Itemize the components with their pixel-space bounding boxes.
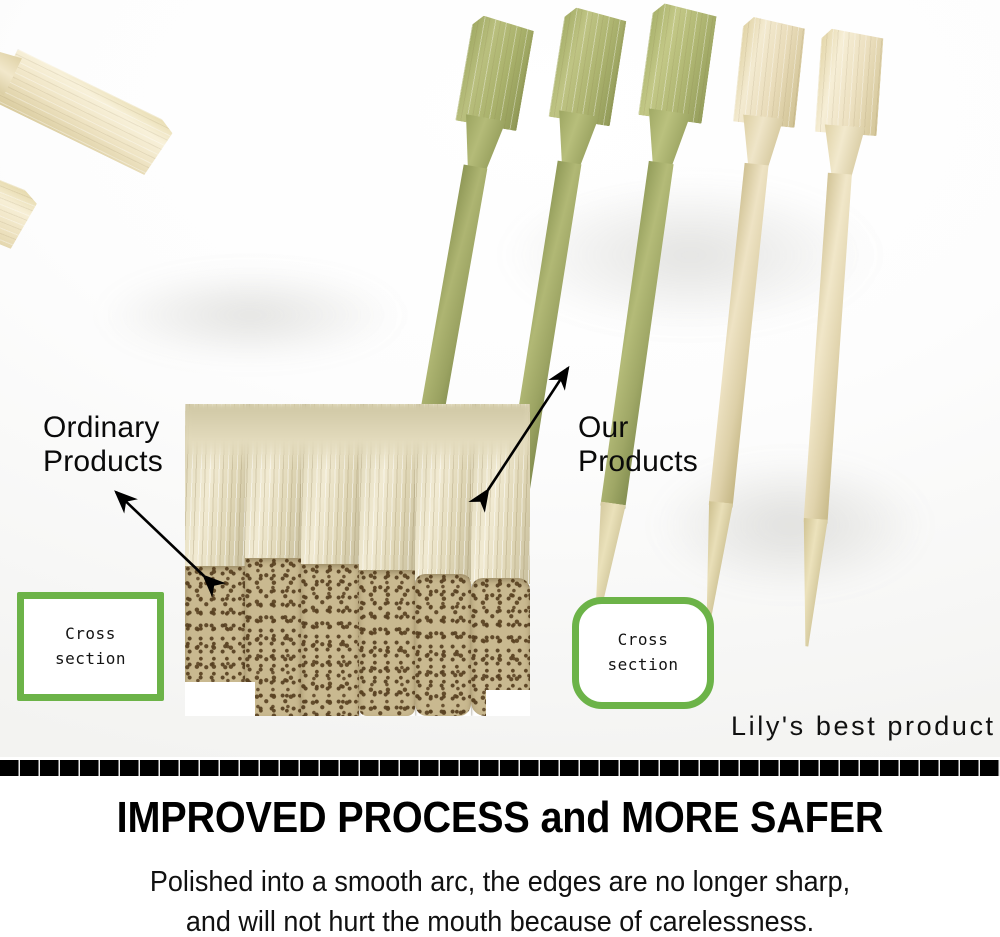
ticked-divider (0, 760, 1000, 776)
photo-shadow (430, 150, 950, 360)
footer-subline: Polished into a smooth arc, the edges ar… (35, 862, 965, 937)
arrow-ordinary (100, 480, 230, 590)
arrow-ours (476, 356, 580, 502)
label-our-products: Our Products (578, 411, 698, 479)
inset-corner-mask (185, 682, 255, 716)
photo-shadow (40, 250, 460, 380)
badge-cross-section-ours: Cross section (572, 597, 714, 709)
badge-cross-section-ordinary: Cross section (17, 592, 164, 701)
product-poster: Ordinary Products Our Products Cross sec… (0, 0, 1000, 937)
footer-headline: IMPROVED PROCESS and MORE SAFER (50, 793, 950, 843)
brand-tagline: Lily's best product (731, 711, 996, 742)
label-ordinary-products: Ordinary Products (43, 411, 163, 479)
product-photo: Ordinary Products Our Products Cross sec… (0, 0, 1000, 757)
inset-corner-mask (486, 690, 530, 716)
